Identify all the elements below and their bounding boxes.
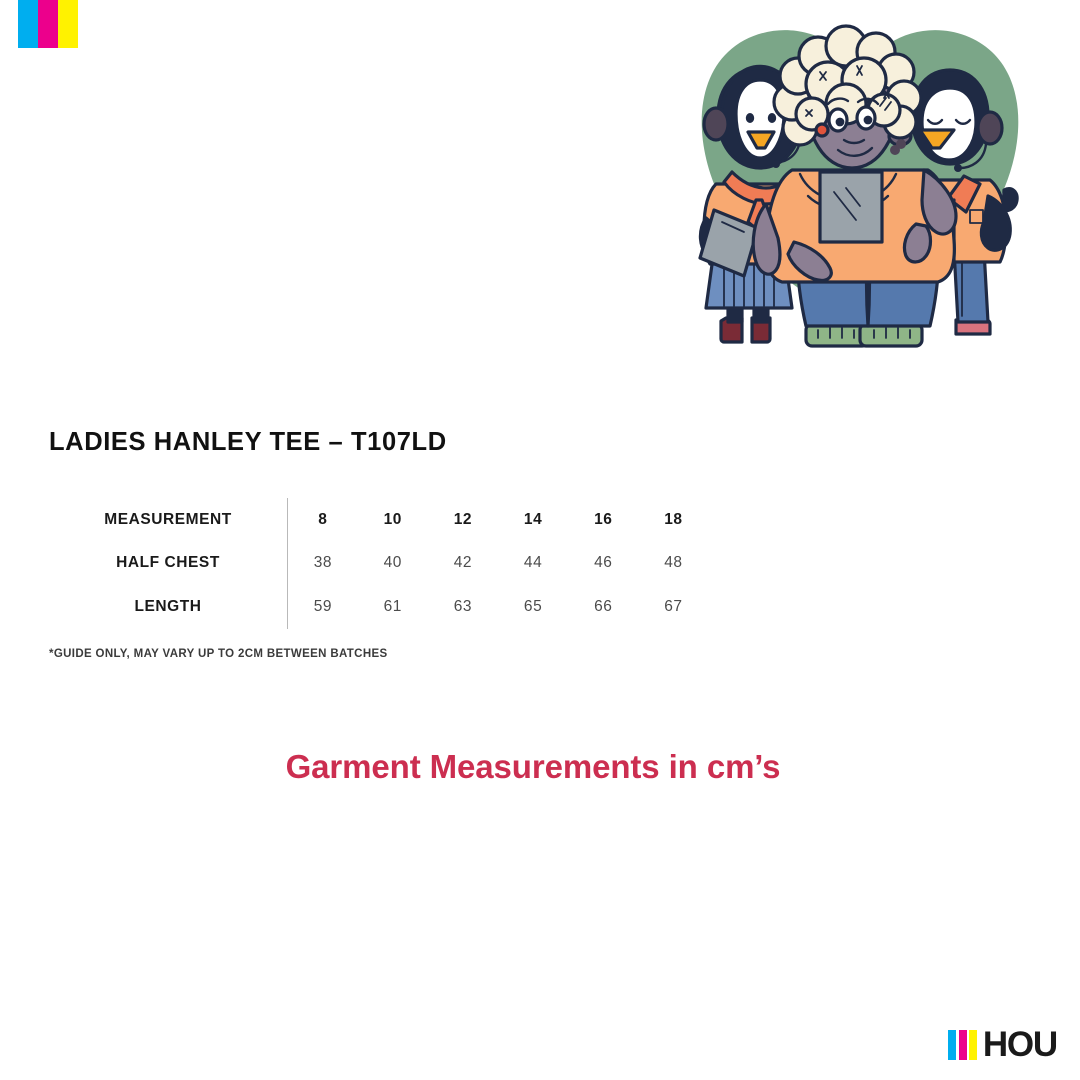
length-size-16: 66 bbox=[568, 585, 638, 629]
support-team-mascots-illustration: .ol { stroke:#1F2A44; stroke-width:3.2; … bbox=[688, 18, 1032, 370]
size-header-14: 14 bbox=[498, 498, 568, 542]
cyan-bar bbox=[18, 0, 38, 48]
yellow-bar bbox=[969, 1030, 977, 1060]
size-header-10: 10 bbox=[358, 498, 428, 542]
length-size-12: 63 bbox=[428, 585, 498, 629]
measurement-column-header: MEASUREMENT bbox=[49, 498, 288, 542]
size-header-16: 16 bbox=[568, 498, 638, 542]
size-chart-table: MEASUREMENT 8 10 12 14 16 18 HALF CHEST … bbox=[49, 498, 709, 629]
half-chest-size-14: 44 bbox=[498, 542, 568, 586]
magenta-bar bbox=[38, 0, 58, 48]
yellow-bar bbox=[58, 0, 78, 48]
page-title: LADIES HANLEY TEE – T107LD bbox=[49, 428, 447, 457]
magenta-bar bbox=[959, 1030, 967, 1060]
logo-cmyk-bars bbox=[948, 1030, 980, 1060]
garment-measurements-heading: Garment Measurements in cm’s bbox=[0, 748, 1066, 786]
row-label-length: LENGTH bbox=[49, 585, 288, 629]
brand-logo: HOU bbox=[948, 1028, 1057, 1062]
size-header-12: 12 bbox=[428, 498, 498, 542]
table-row: LENGTH 59 61 63 65 66 67 bbox=[49, 585, 709, 629]
half-chest-size-16: 46 bbox=[568, 542, 638, 586]
cmyk-registration-mark bbox=[18, 0, 78, 48]
length-size-14: 65 bbox=[498, 585, 568, 629]
half-chest-size-12: 42 bbox=[428, 542, 498, 586]
table-row: HALF CHEST 38 40 42 44 46 48 bbox=[49, 542, 709, 586]
size-header-8: 8 bbox=[288, 498, 358, 542]
row-label-half-chest: HALF CHEST bbox=[49, 542, 288, 586]
length-size-10: 61 bbox=[358, 585, 428, 629]
half-chest-size-18: 48 bbox=[638, 542, 708, 586]
size-header-18: 18 bbox=[638, 498, 708, 542]
table-header-row: MEASUREMENT 8 10 12 14 16 18 bbox=[49, 498, 709, 542]
half-chest-size-8: 38 bbox=[288, 542, 358, 586]
size-chart-footnote: *GUIDE ONLY, MAY VARY UP TO 2CM BETWEEN … bbox=[49, 648, 388, 660]
half-chest-size-10: 40 bbox=[358, 542, 428, 586]
length-size-8: 59 bbox=[288, 585, 358, 629]
length-size-18: 67 bbox=[638, 585, 708, 629]
cyan-bar bbox=[948, 1030, 956, 1060]
logo-wordmark: HOU bbox=[983, 1030, 1057, 1060]
